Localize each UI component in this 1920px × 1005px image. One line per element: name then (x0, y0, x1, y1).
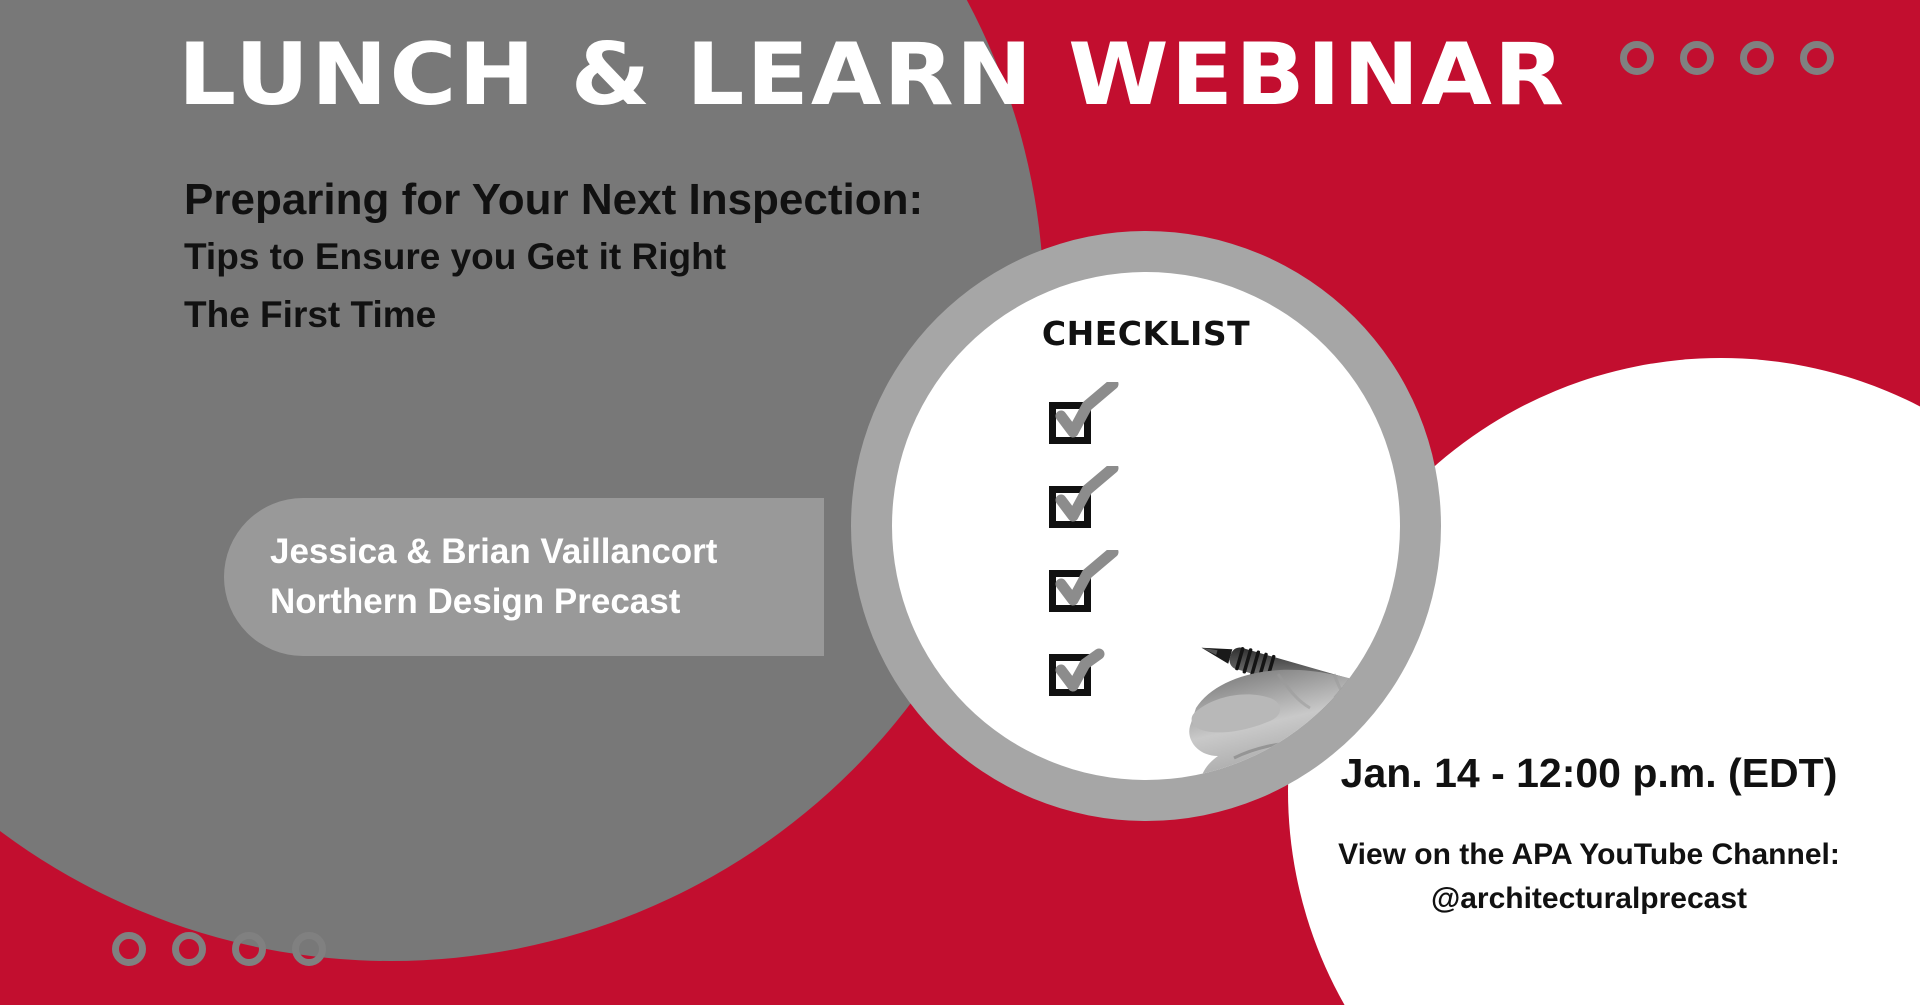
checklist-heading: CHECKLIST (892, 314, 1400, 353)
page-title: LUNCH & LEARN WEBINAR (178, 30, 1566, 120)
checklist-medallion-inner: CHECKLIST (892, 272, 1400, 780)
checkbox-icon (1049, 486, 1091, 528)
checkbox-icon (1049, 402, 1091, 444)
subtitle-line-1: Preparing for Your Next Inspection: (184, 172, 923, 228)
speaker-pill: Jessica & Brian Vaillancort Northern Des… (224, 498, 824, 656)
checklist-medallion: CHECKLIST (851, 231, 1441, 821)
checkbox-icon (1049, 570, 1091, 612)
dot-ornament-top-right (1620, 41, 1834, 75)
circle-ring-icon (172, 932, 206, 966)
circle-ring-icon (232, 932, 266, 966)
checkbox-item (1049, 472, 1169, 542)
circle-ring-icon (1800, 41, 1834, 75)
speaker-organization: Northern Design Precast (270, 577, 824, 627)
event-details: Jan. 14 - 12:00 p.m. (EDT) View on the A… (1258, 750, 1920, 920)
circle-ring-icon (292, 932, 326, 966)
dot-ornament-bottom-left (112, 932, 326, 966)
checkbox-item (1049, 388, 1169, 458)
circle-ring-icon (112, 932, 146, 966)
channel-handle: @architecturalprecast (1258, 877, 1920, 921)
channel-label: View on the APA YouTube Channel: (1258, 833, 1920, 877)
subtitle-line-3: The First Time (184, 286, 923, 343)
circle-ring-icon (1680, 41, 1714, 75)
circle-ring-icon (1740, 41, 1774, 75)
subtitle-line-2: Tips to Ensure you Get it Right (184, 228, 923, 285)
subtitle-block: Preparing for Your Next Inspection: Tips… (184, 172, 923, 343)
webinar-promo-banner: LUNCH & LEARN WEBINAR Preparing for Your… (0, 0, 1920, 1005)
event-datetime: Jan. 14 - 12:00 p.m. (EDT) (1258, 750, 1920, 797)
checkbox-icon (1049, 654, 1091, 696)
circle-ring-icon (1620, 41, 1654, 75)
speaker-names: Jessica & Brian Vaillancort (270, 527, 824, 577)
